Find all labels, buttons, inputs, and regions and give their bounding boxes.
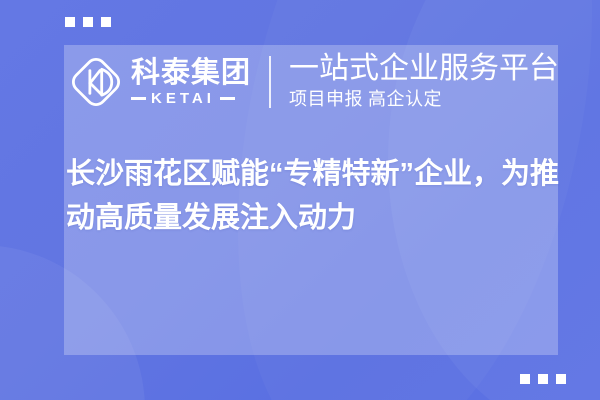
square-icon [556, 374, 566, 384]
promo-banner: 科泰集团 KETAI 一站式企业服务平台 项目申报 高企认定 长沙雨花区赋能“专… [0, 0, 600, 400]
brand-name-en: KETAI [151, 91, 215, 106]
square-icon [65, 17, 75, 27]
brand-wordmark: 科泰集团 KETAI [131, 58, 251, 106]
brand-name-en-row: KETAI [131, 91, 251, 106]
dash-left-icon [131, 97, 146, 100]
brand-header: 科泰集团 KETAI 一站式企业服务平台 项目申报 高企认定 [68, 46, 559, 118]
brand-name-cn: 科泰集团 [131, 58, 251, 89]
tagline-main: 一站式企业服务平台 [289, 53, 559, 85]
tagline-sub: 项目申报 高企认定 [289, 88, 559, 111]
brand-divider [269, 56, 271, 108]
top-left-square-decoration [65, 17, 111, 27]
square-icon [83, 17, 93, 27]
headline-text: 长沙雨花区赋能“专精特新”企业，为推动高质量发展注入动力 [66, 152, 586, 240]
ketai-diamond-monogram-icon [68, 54, 124, 110]
bottom-right-square-decoration [520, 374, 566, 384]
square-icon [520, 374, 530, 384]
square-icon [101, 17, 111, 27]
dash-right-icon [220, 97, 235, 100]
square-icon [538, 374, 548, 384]
tagline-block: 一站式企业服务平台 项目申报 高企认定 [289, 53, 559, 111]
